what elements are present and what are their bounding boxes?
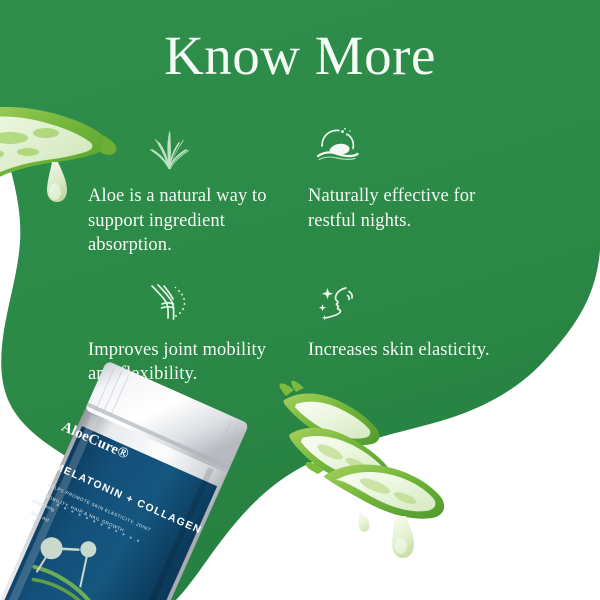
decorative-aloe-artwork (0, 0, 600, 600)
poster-canvas: Know More (0, 0, 600, 600)
aloe-leaf-slice-topleft (0, 107, 116, 202)
aloe-leaf-segments-cluster (279, 381, 444, 558)
product-bottle (0, 360, 249, 600)
